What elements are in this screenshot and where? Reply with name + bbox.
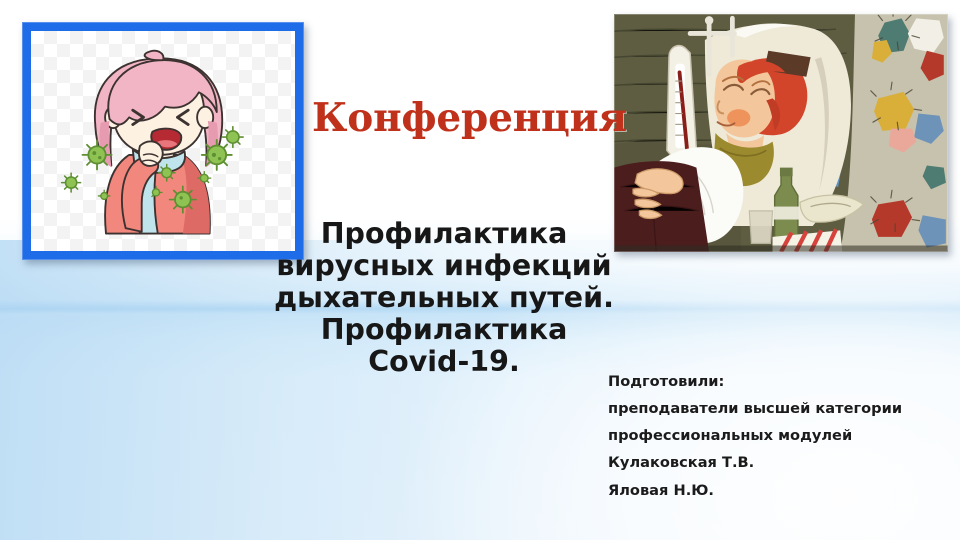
- presentation-slide: Конференция Профилактика вирусных инфекц…: [0, 0, 960, 540]
- author-name-1: Кулаковская Т.В.: [608, 449, 952, 476]
- authors-block: Подготовили: преподаватели высшей катего…: [608, 368, 952, 504]
- authors-role-2: профессиональных модулей: [608, 422, 952, 449]
- image-frame-left: [22, 22, 304, 260]
- coughing-girl-artwork: [31, 31, 295, 251]
- coughing-girl-image: [31, 31, 295, 251]
- sick-boy-illustration: [614, 14, 948, 252]
- sick-boy-cartoon-image: [614, 14, 948, 252]
- coughing-girl-illustration: [47, 35, 279, 246]
- author-name-2: Яловая Н.Ю.: [608, 477, 952, 504]
- conference-heading: Конференция: [312, 98, 612, 139]
- image-frame-right: [614, 14, 948, 252]
- authors-label: Подготовили:: [608, 368, 952, 395]
- authors-role-1: преподаватели высшей категории: [608, 395, 952, 422]
- page-title: Профилактика вирусных инфекций дыхательн…: [268, 218, 620, 378]
